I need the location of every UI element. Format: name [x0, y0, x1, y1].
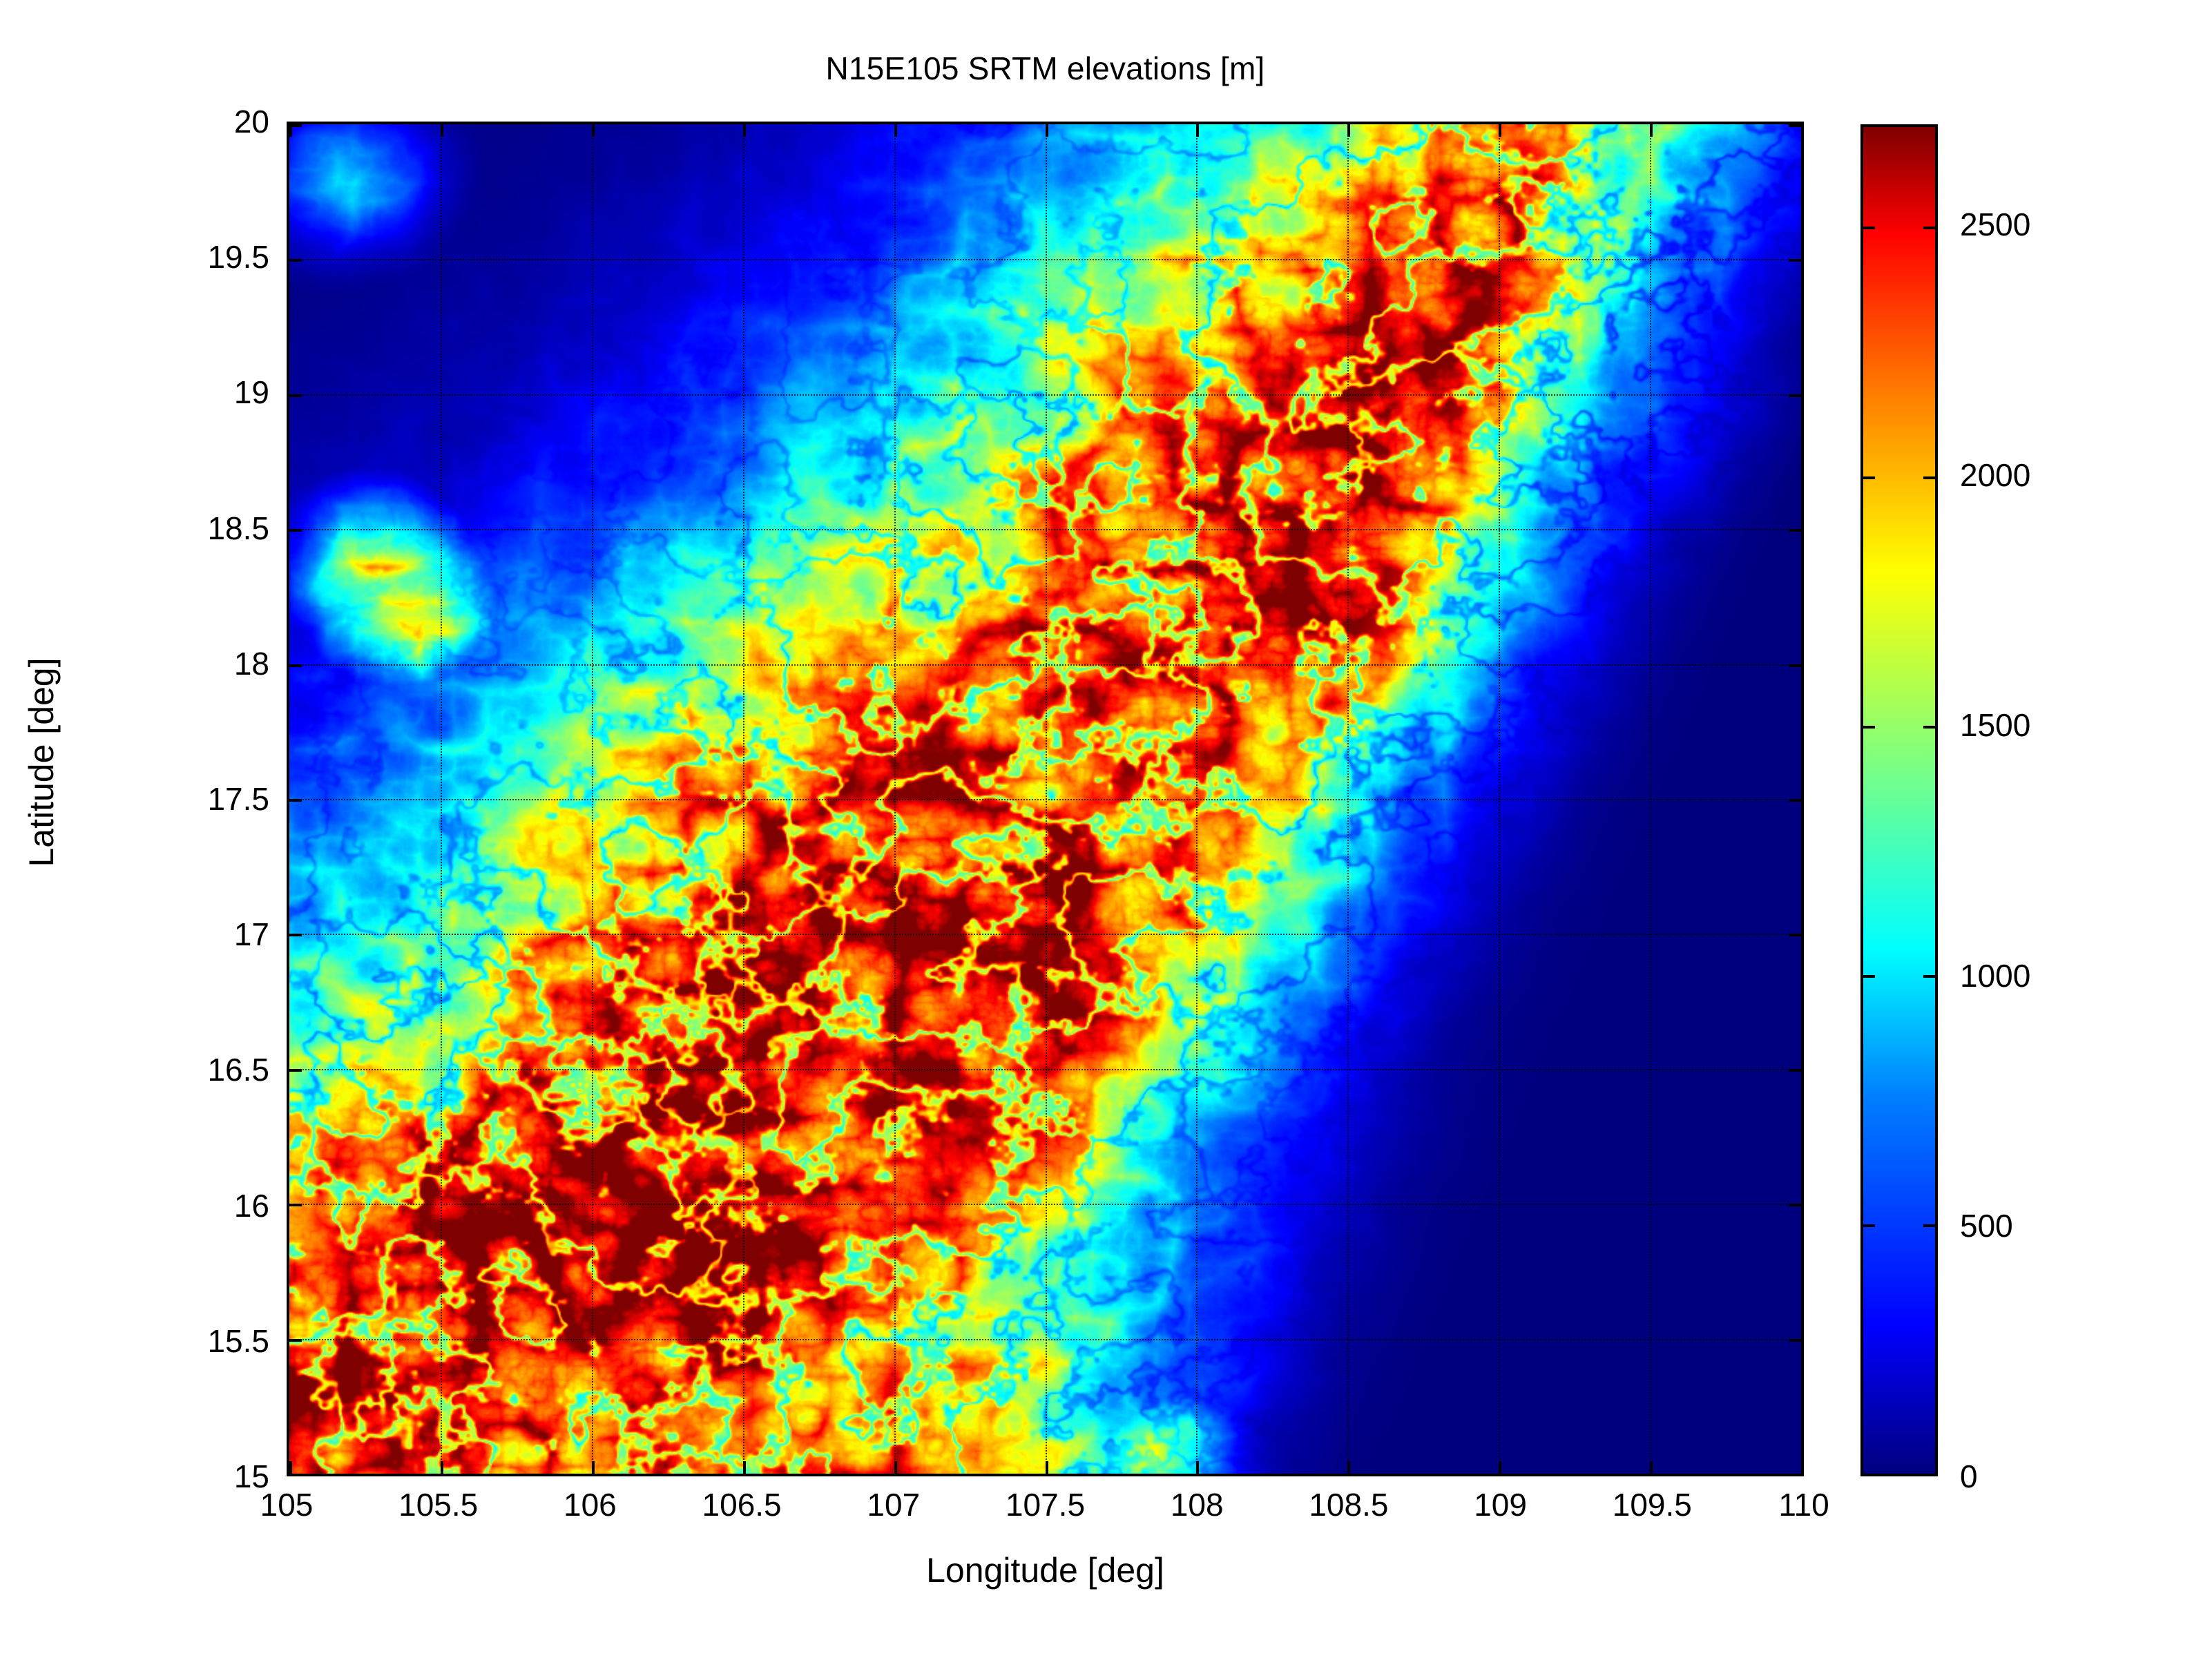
colorbar-tick-label: 1500	[1960, 706, 2030, 744]
x-tick	[289, 1461, 292, 1474]
elevation-heatmap	[289, 124, 1801, 1474]
colorbar-tick-label: 2500	[1960, 206, 2030, 243]
y-tick-label: 20	[234, 103, 269, 140]
y-tick-label: 18.5	[207, 510, 269, 547]
y-tick-label: 19.5	[207, 238, 269, 276]
colorbar-tick	[1863, 476, 1875, 479]
x-tick	[743, 124, 746, 137]
colorbar-tick	[1923, 1474, 1935, 1476]
x-tick	[743, 1461, 746, 1474]
y-tick	[1789, 934, 1801, 936]
x-tick	[1347, 124, 1350, 137]
y-tick	[1789, 664, 1801, 667]
colorbar-tick	[1923, 1224, 1935, 1227]
colorbar-tick	[1923, 226, 1935, 229]
y-tick-label: 19	[234, 374, 269, 411]
x-tick	[1650, 1461, 1653, 1474]
x-axis-title: Longitude [deg]	[287, 1550, 1804, 1590]
y-tick	[289, 1069, 302, 1072]
y-tick	[289, 394, 302, 397]
y-tick-label: 16.5	[207, 1051, 269, 1088]
x-tick	[894, 124, 897, 137]
y-tick	[289, 529, 302, 532]
elevation-map-axes[interactable]	[287, 122, 1804, 1476]
y-axis-title: Latitude [deg]	[21, 541, 61, 983]
figure-canvas: N15E105 SRTM elevations [m] 105105.51061…	[0, 0, 2212, 1658]
y-tick	[1789, 1069, 1801, 1072]
x-tick-label: 110	[1778, 1486, 1829, 1523]
colorbar[interactable]	[1860, 124, 1938, 1476]
y-tick	[289, 259, 302, 262]
x-tick	[1499, 124, 1501, 137]
colorbar-tick-label: 0	[1960, 1458, 1978, 1495]
colorbar-tick	[1863, 726, 1875, 729]
colorbar-tick	[1863, 975, 1875, 978]
x-tick-label: 107	[867, 1486, 920, 1523]
y-tick	[289, 664, 302, 667]
y-tick	[289, 1204, 302, 1206]
x-tick	[1650, 124, 1653, 137]
y-tick-label: 17.5	[207, 780, 269, 818]
figure-title: N15E105 SRTM elevations [m]	[287, 50, 1804, 87]
colorbar-tick	[1923, 476, 1935, 479]
y-tick	[1789, 1204, 1801, 1206]
y-tick-label: 15	[234, 1458, 269, 1495]
y-tick	[1789, 1339, 1801, 1342]
x-tick	[1347, 1461, 1350, 1474]
x-tick	[1046, 124, 1048, 137]
colorbar-tick	[1923, 975, 1935, 978]
y-tick	[1789, 799, 1801, 802]
x-tick-label: 109.5	[1613, 1486, 1692, 1523]
x-tick	[1801, 124, 1804, 137]
y-tick	[1789, 124, 1801, 127]
y-tick	[289, 124, 302, 127]
colorbar-tick-label: 500	[1960, 1207, 2013, 1244]
x-tick-label: 107.5	[1006, 1486, 1085, 1523]
colorbar-tick	[1923, 726, 1935, 729]
y-tick	[1789, 259, 1801, 262]
x-tick	[1046, 1461, 1048, 1474]
colorbar-tick	[1863, 226, 1875, 229]
colorbar-tick-label: 2000	[1960, 456, 2030, 494]
x-tick-label: 109	[1474, 1486, 1527, 1523]
y-tick	[1789, 394, 1801, 397]
y-tick-label: 17	[234, 916, 269, 953]
colorbar-tick	[1863, 1474, 1875, 1476]
y-tick	[289, 1474, 302, 1476]
colorbar-tick	[1863, 1224, 1875, 1227]
x-tick	[1499, 1461, 1501, 1474]
x-tick	[1801, 1461, 1804, 1474]
x-tick-label: 106	[564, 1486, 617, 1523]
x-tick	[592, 1461, 595, 1474]
y-tick	[289, 1339, 302, 1342]
x-tick	[894, 1461, 897, 1474]
x-tick-label: 108.5	[1309, 1486, 1388, 1523]
colorbar-tick-label: 1000	[1960, 957, 2030, 994]
x-tick-label: 108	[1171, 1486, 1224, 1523]
x-tick-label: 106.5	[702, 1486, 782, 1523]
x-tick-label: 105.5	[398, 1486, 478, 1523]
y-tick-label: 18	[234, 645, 269, 682]
y-tick-label: 16	[234, 1187, 269, 1224]
y-tick	[289, 934, 302, 936]
x-tick	[592, 124, 595, 137]
y-tick-label: 15.5	[207, 1322, 269, 1360]
x-tick	[441, 1461, 443, 1474]
x-tick	[1196, 1461, 1199, 1474]
x-tick	[1196, 124, 1199, 137]
y-tick	[1789, 1474, 1801, 1476]
x-tick	[441, 124, 443, 137]
y-tick	[1789, 529, 1801, 532]
y-tick	[289, 799, 302, 802]
